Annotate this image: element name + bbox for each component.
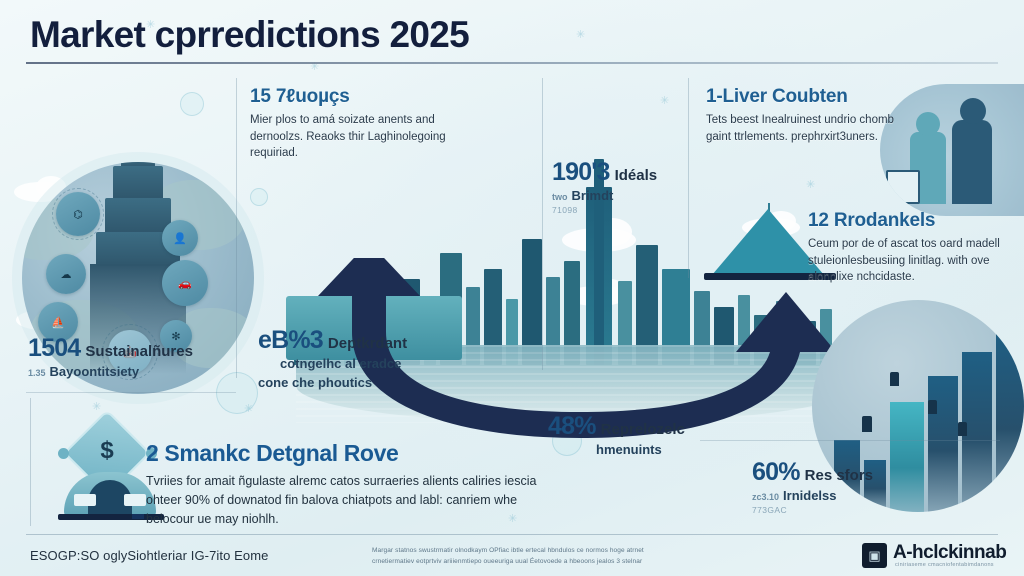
stat-sub-text: Bayoontitsiety — [50, 364, 140, 379]
footer-fine-print-line: Margar statnos swustrmatir olnodkaym OPf… — [372, 545, 792, 556]
column-divider — [542, 78, 543, 370]
stat-value: 48% — [548, 412, 596, 441]
person-head — [916, 112, 940, 136]
stat-ideals-brimdt: 190'3Idéals twoBrimdt 71098 — [552, 158, 657, 215]
stat-sub-prefix: zc3.10 — [752, 492, 783, 502]
network-icon: ⌬ — [56, 192, 100, 236]
footer-fine-print-line: crnetiermatiev eotprtviv ariiienmtiepo o… — [372, 556, 792, 567]
stat-sustainability: 1504Sustainalñures 1.35Bayoontitsiety — [28, 334, 193, 379]
stat-sub: zc3.10Irnidelss — [752, 488, 873, 503]
person-figure — [952, 120, 992, 204]
stat-value: 190'3 — [552, 158, 610, 187]
stat-tiny: 71098 — [552, 205, 657, 215]
screen-icon — [886, 170, 920, 204]
stat-sub-text: Brimdt — [572, 188, 614, 203]
brand-logo[interactable]: ▣ A-hclckinnab ciniriaseme cmacniofentab… — [862, 541, 1012, 571]
block-heading: 12 Rrodankels — [808, 210, 1020, 232]
footer-fine-print: Margar statnos swustrmatir olnodkaym OPf… — [372, 545, 792, 567]
vault-drawer — [74, 494, 96, 506]
block-body: Mier plos to amá soizate anents and dern… — [250, 112, 488, 162]
footer-divider — [26, 534, 998, 535]
row-divider — [26, 392, 236, 393]
stat-sub-prefix: 1.35 — [28, 368, 50, 378]
block-heading: 1-Liver Coubten — [706, 86, 896, 108]
snowflake-icon: ✳ — [660, 96, 669, 107]
block-heading: 2 Smankc Detgnal Rove — [146, 440, 556, 467]
header-divider — [26, 62, 998, 64]
worker-figure — [958, 422, 967, 436]
worker-figure — [890, 372, 899, 386]
stat-sub: 1.35Bayoontitsiety — [28, 364, 193, 379]
stat-reprelozelc: 48%Reprelozelc hmenuints — [548, 412, 685, 457]
bokeh-circle — [180, 92, 204, 116]
stat-label: Deptkrdant — [323, 335, 407, 352]
footer-caption: ESOGP:SO oglySiohtleriar IG-7ito Eome — [30, 548, 269, 563]
chart-bar — [996, 328, 1024, 512]
accent-bar — [132, 514, 144, 519]
block-trends: 15 7ℓuoµçs Mier plos to amá soizate anen… — [250, 86, 488, 162]
brand-tagline: ciniriaseme cmacniofentabimdanons — [895, 562, 994, 568]
node-dot — [58, 448, 69, 459]
block-rrodankels: 12 Rrodankels Ceum por de of ascat tos o… — [808, 210, 1020, 286]
stat-deptkrdant: eB%3Deptkrdant cotngelhc al eradce cone … — [258, 326, 407, 390]
worker-figure — [862, 416, 872, 432]
column-divider — [236, 78, 237, 378]
stat-sub: cotngelhc al eradce — [258, 356, 407, 371]
dollar-sign-icon: $ — [92, 436, 122, 466]
stat-value: eB%3 — [258, 326, 323, 355]
brand-name: A-hclckinnab — [893, 542, 1006, 564]
presentation-chart-icon: ▣ — [862, 543, 887, 568]
bokeh-circle — [250, 188, 268, 206]
stat-value: 1504 — [28, 334, 80, 363]
block-smankc-detgnal-rove: 2 Smankc Detgnal Rove Tvriies for amait … — [146, 440, 556, 528]
stat-label: Reprelozelc — [596, 421, 685, 438]
person-icon: 👤 — [162, 220, 198, 256]
block-body: Ceum por de of ascat tos oard madell stu… — [808, 236, 1020, 286]
stat-tiny: 773GAC — [752, 505, 873, 515]
column-divider — [688, 78, 689, 278]
stat-label: Res sfors — [800, 467, 873, 484]
snowflake-icon: ✳ — [92, 402, 101, 413]
stat-sub: twoBrimdt — [552, 188, 657, 203]
stat-sub-prefix: two — [552, 192, 572, 202]
row-divider — [700, 440, 1000, 441]
snowflake-icon: ✳ — [244, 404, 253, 415]
header: Market cprredictions 2025 — [0, 0, 1024, 70]
chart-bar — [890, 402, 924, 512]
stat-sub-extra: cone che phoutics — [258, 375, 407, 390]
stat-res-sfors: 60%Res sfors zc3.10Irnidelss 773GAC — [752, 458, 873, 515]
person-head — [960, 98, 986, 124]
block-body: Tvriies for amait ñgulaste alremc catos … — [146, 472, 556, 528]
stat-label: Idéals — [610, 167, 658, 184]
car-icon: 🚗 — [162, 260, 208, 306]
stat-sub: hmenuints — [548, 442, 685, 457]
people-illustration — [880, 84, 1024, 216]
chart-bar — [928, 376, 958, 512]
block-body: Tets beest Inealruinest undrio chomb gai… — [706, 112, 896, 145]
block-heading: 15 7ℓuoµçs — [250, 86, 488, 108]
infographic-canvas: ✳ ✳ ✳ ✳ ✳ ✳ ✳ ✳ ✳ ✳ Market cprredictions… — [0, 0, 1024, 576]
block-liver-coubten: 1-Liver Coubten Tets beest Inealruinest … — [706, 86, 896, 145]
vault-drawer — [124, 494, 146, 506]
column-divider — [30, 398, 31, 526]
stat-label: Sustainalñures — [80, 343, 193, 360]
worker-figure — [928, 400, 937, 414]
stat-value: 60% — [752, 458, 800, 487]
stat-sub-text: Irnidelss — [783, 488, 836, 503]
page-title: Market cprredictions 2025 — [30, 14, 469, 56]
cloud-data-icon: ☁ — [46, 254, 86, 294]
